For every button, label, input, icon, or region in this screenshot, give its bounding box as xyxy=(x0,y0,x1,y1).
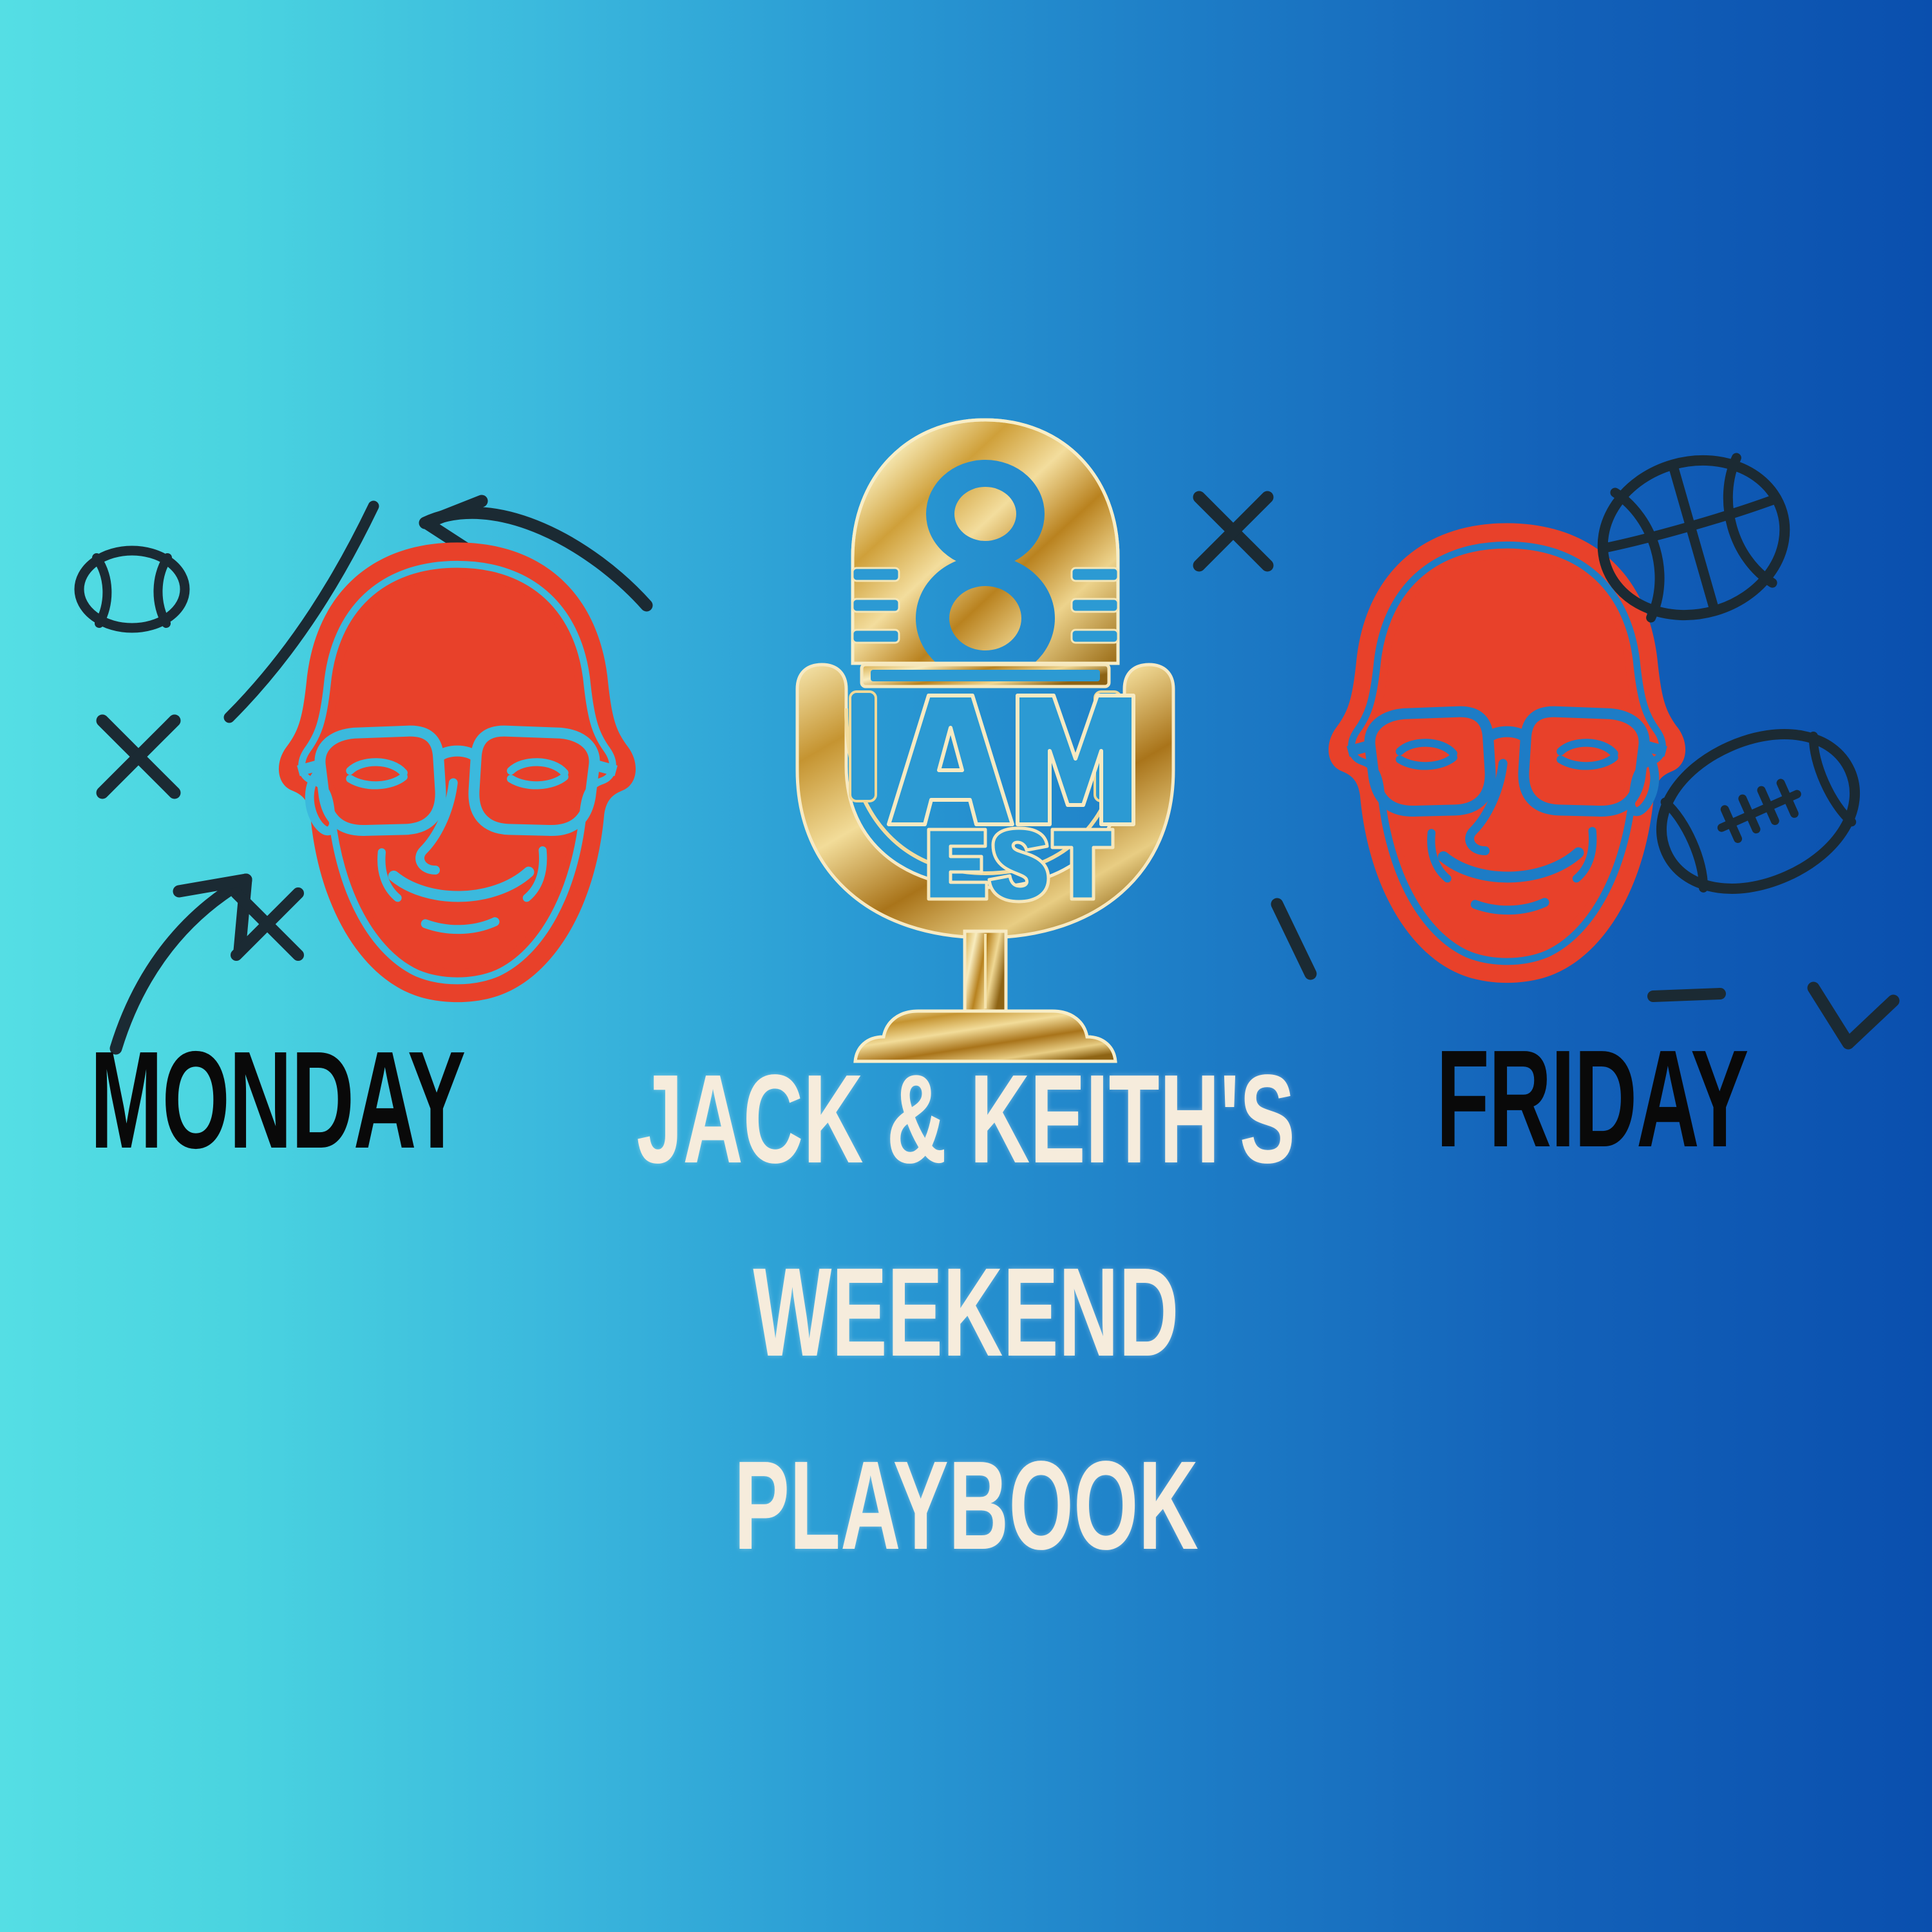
host-face-icon xyxy=(258,535,657,1011)
microphone-icon: 8 xyxy=(760,406,1211,1069)
logo-meridiem-group xyxy=(889,696,1133,824)
show-title-line-3: PLAYBOOK xyxy=(0,1443,1932,1569)
show-title-line-1-text: JACK & KEITH'S xyxy=(637,1056,1296,1182)
x-mark-icon xyxy=(93,712,184,802)
football-icon xyxy=(1649,728,1868,895)
show-title-line-1: JACK & KEITH'S xyxy=(0,1056,1932,1182)
baseball-icon xyxy=(71,541,193,638)
show-title-line-2: WEEKEND xyxy=(0,1249,1932,1376)
logo-timezone-group xyxy=(929,828,1113,902)
podcast-cover-art: 8 xyxy=(0,0,1932,1932)
check-mark-icon xyxy=(1803,979,1906,1063)
show-title-line-3-text: PLAYBOOK xyxy=(734,1443,1198,1569)
basketball-icon xyxy=(1591,451,1797,625)
dash-mark-icon xyxy=(1265,895,1330,985)
dash-mark-icon xyxy=(1645,982,1729,1008)
show-title-line-2-text: WEEKEND xyxy=(753,1249,1179,1376)
